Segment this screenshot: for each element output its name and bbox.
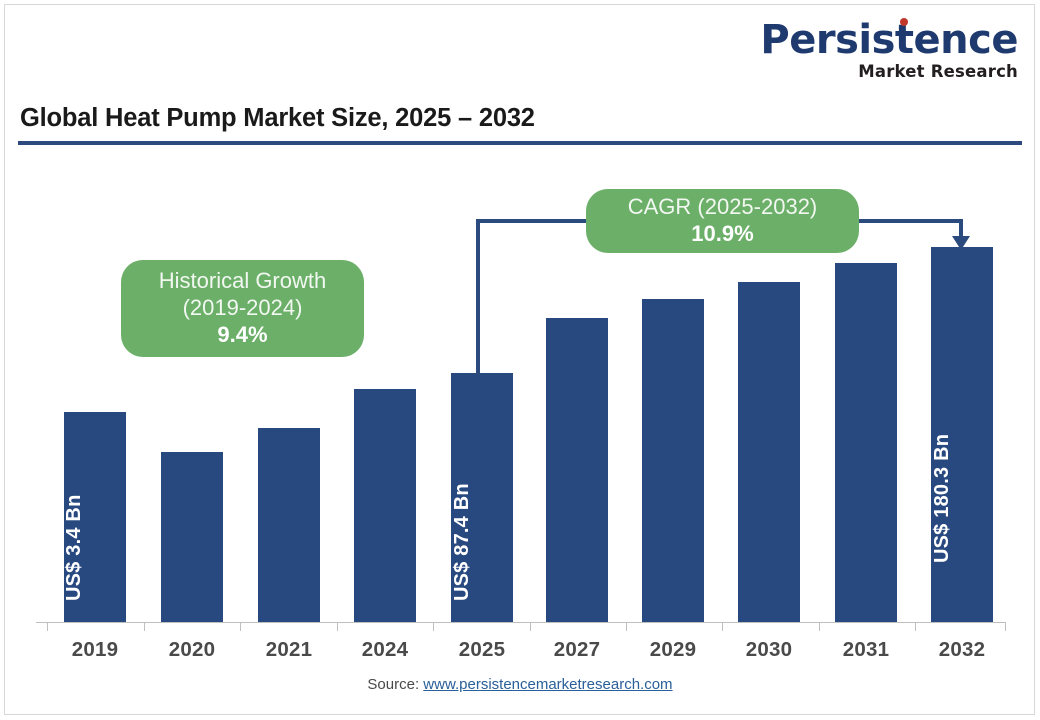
x-axis-tick [240,622,241,631]
x-label-2021: 2021 [249,638,329,662]
x-axis-tick [337,622,338,631]
x-label-2025: 2025 [442,638,522,662]
x-axis-tick [626,622,627,631]
source-line: Source: www.persistencemarketresearch.co… [0,676,1040,693]
bar-label-2019: US$ 3.4 Bn [63,495,86,601]
x-label-2027: 2027 [537,638,617,662]
x-label-2032: 2032 [922,638,1002,662]
x-axis-tick [915,622,916,631]
x-label-2024: 2024 [345,638,425,662]
x-label-2031: 2031 [826,638,906,662]
bar-2024[interactable] [354,389,416,622]
cagr-connector-left-stem [476,219,480,375]
x-axis-tick [1005,622,1006,631]
x-label-2020: 2020 [152,638,232,662]
x-axis-tick [722,622,723,631]
historical-growth-line2: (2019-2024) [183,295,303,322]
bar-2029[interactable] [642,299,704,622]
source-prefix: Source: [367,676,423,693]
bar-chart-plot: US$ 3.4 Bn US$ 87.4 Bn US$ 180.3 Bn Hist… [0,0,1040,720]
x-axis-tick [433,622,434,631]
x-axis-line [36,622,1006,623]
historical-growth-callout: Historical Growth (2019-2024) 9.4% [121,260,364,357]
historical-growth-value: 9.4% [217,322,267,349]
x-axis-tick [47,622,48,631]
x-label-2029: 2029 [633,638,713,662]
bar-2021[interactable] [258,428,320,622]
bar-label-2032: US$ 180.3 Bn [931,434,954,563]
bar-2030[interactable] [738,282,800,622]
x-axis-tick [144,622,145,631]
chart-page: Persistence Market Research Global Heat … [0,0,1040,720]
x-label-2019: 2019 [55,638,135,662]
x-axis-tick [819,622,820,631]
cagr-value: 10.9% [691,221,753,248]
source-link[interactable]: www.persistencemarketresearch.com [423,676,672,693]
x-label-2030: 2030 [729,638,809,662]
cagr-line1: CAGR (2025-2032) [628,194,818,221]
cagr-callout: CAGR (2025-2032) 10.9% [586,189,859,253]
bar-2020[interactable] [161,452,223,622]
bar-label-2025: US$ 87.4 Bn [451,483,474,601]
bar-2031[interactable] [835,263,897,622]
x-axis-tick [530,622,531,631]
bar-2027[interactable] [546,318,608,622]
cagr-arrow-icon [952,236,970,250]
historical-growth-line1: Historical Growth [159,268,326,295]
